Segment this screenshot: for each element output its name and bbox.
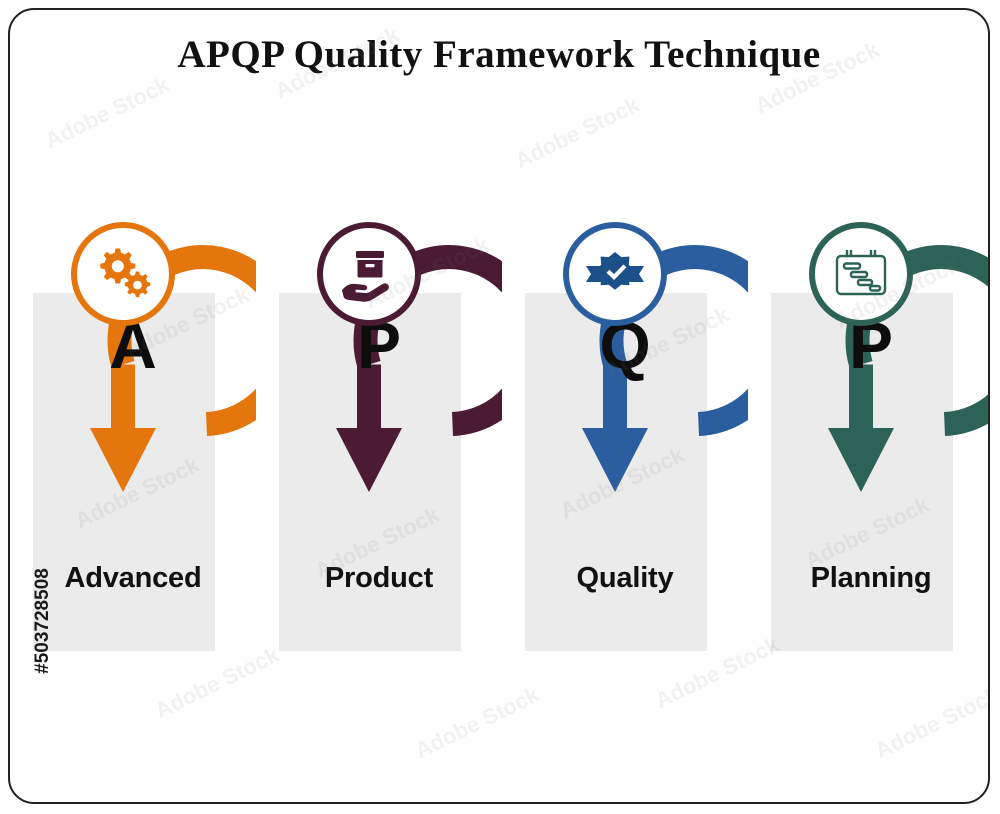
hand-holding-box-icon xyxy=(338,246,400,302)
step-caption-product: Product xyxy=(256,562,502,594)
gears-icon xyxy=(92,245,154,303)
step-column-product[interactable]: P Produ xyxy=(256,10,502,804)
gantt-chart-icon xyxy=(832,248,890,300)
step-caption-planning: Planning xyxy=(748,562,990,594)
step-caption-advanced: Advanced xyxy=(10,562,256,594)
step-column-advanced[interactable]: A Advanced xyxy=(10,10,256,804)
step-caption-quality: Quality xyxy=(502,562,748,594)
step-icon-circle-planning[interactable] xyxy=(809,222,913,326)
step-icon-circle-advanced[interactable] xyxy=(71,222,175,326)
infographic-frame: APQP Quality Framework Technique A xyxy=(8,8,990,804)
step-column-planning[interactable]: P xyxy=(748,10,990,804)
step-icon-circle-quality[interactable] xyxy=(563,222,667,326)
step-column-quality[interactable]: Q xyxy=(502,10,748,804)
steps-container: A Advanced xyxy=(10,10,990,804)
quality-badge-check-icon xyxy=(584,251,646,297)
step-icon-circle-product[interactable] xyxy=(317,222,421,326)
